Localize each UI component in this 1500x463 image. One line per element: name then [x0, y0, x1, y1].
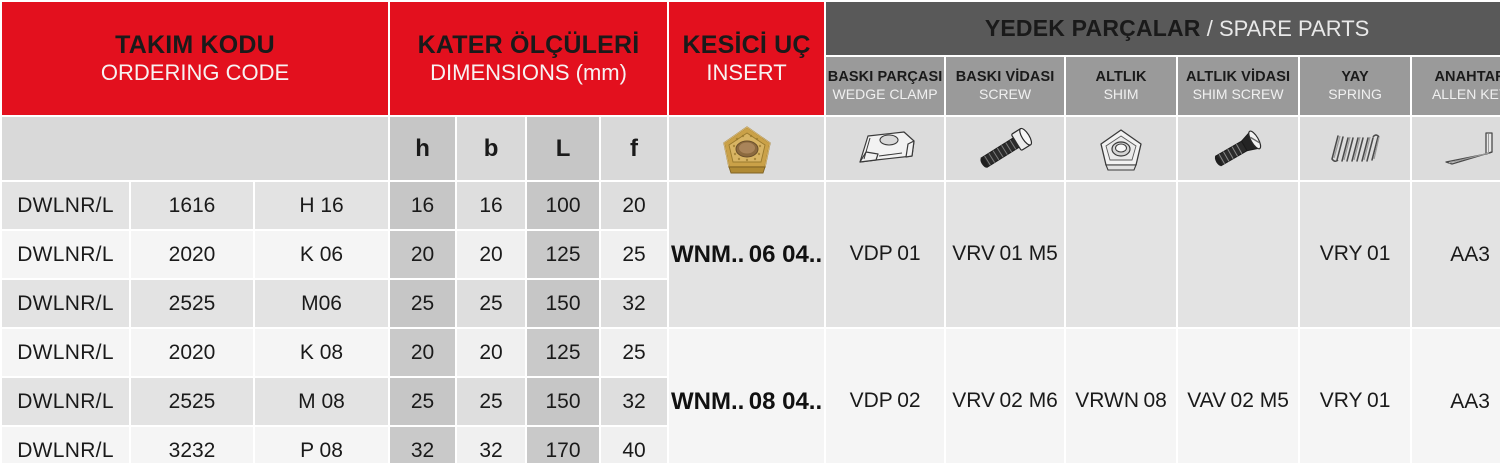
cell-size: 1616	[131, 182, 253, 229]
header-ordering-code-tr: TAKIM KODU	[2, 31, 388, 60]
cell-holder: P 08	[255, 427, 388, 463]
cell-dim-h: 20	[390, 329, 455, 376]
screw-group-2-line2: 02 M6	[1000, 389, 1058, 412]
shim-icon	[1090, 125, 1152, 173]
header-shim-tr: ALTLIK	[1066, 69, 1176, 86]
shim-screw-icon	[1199, 126, 1277, 172]
cell-dim-f: 32	[601, 280, 667, 327]
header-spring-tr: YAY	[1300, 69, 1410, 86]
dimension-letter-L: L	[527, 117, 599, 180]
screw-group-1-line2: 01 M5	[1000, 242, 1058, 265]
header-allen-key-tr: ANAHTAR	[1412, 69, 1500, 86]
shim-icon-cell	[1066, 117, 1176, 180]
cell-dim-h: 20	[390, 231, 455, 278]
cell-shim-screw-group-2: VAV 02 M5	[1178, 329, 1298, 463]
header-row-main: TAKIM KODU ORDERING CODE KATER ÖLÇÜLERİ …	[2, 2, 1500, 55]
cell-dim-b: 16	[457, 182, 525, 229]
insert-group-1-line2: 06 04..	[749, 241, 822, 268]
cell-screw-group-2: VRV 02 M6	[946, 329, 1064, 463]
cell-dim-b: 32	[457, 427, 525, 463]
cell-ordering-code: DWLNR/L	[2, 231, 129, 278]
header-row-letters-icons: h b L f	[2, 117, 1500, 180]
cell-dim-b: 25	[457, 378, 525, 425]
header-spare-parts: YEDEK PARÇALAR / SPARE PARTS	[826, 2, 1500, 55]
shim-group-2-line2: 08	[1144, 389, 1167, 412]
cell-shim-group-2: VRWN 08	[1066, 329, 1176, 463]
cell-holder: M06	[255, 280, 388, 327]
insert-group-2-line2: 08 04..	[749, 388, 822, 415]
header-ordering-code: TAKIM KODU ORDERING CODE	[2, 2, 388, 115]
wedge-clamp-icon	[846, 126, 924, 172]
cell-ordering-code: DWLNR/L	[2, 182, 129, 229]
header-screw: BASKI VİDASI SCREW	[946, 57, 1064, 115]
cell-dim-f: 25	[601, 329, 667, 376]
header-spare-parts-en: SPARE PARTS	[1219, 16, 1369, 41]
cell-dim-L: 100	[527, 182, 599, 229]
header-screw-en: SCREW	[946, 86, 1064, 103]
spring-group-1-line2: 01	[1367, 242, 1390, 265]
shim-screw-group-2-line1: VAV	[1187, 389, 1226, 412]
wedge-clamp-group-2-line1: VDP	[850, 389, 893, 412]
cell-dim-L: 150	[527, 280, 599, 327]
header-spare-parts-sep: /	[1201, 16, 1219, 41]
cell-holder: H 16	[255, 182, 388, 229]
cell-holder: M 08	[255, 378, 388, 425]
cell-dim-L: 170	[527, 427, 599, 463]
cell-size: 2020	[131, 231, 253, 278]
header-shim-en: SHIM	[1066, 86, 1176, 103]
cell-wedge-clamp-group-1: VDP 01	[826, 182, 944, 327]
spring-group-2-line2: 01	[1367, 389, 1390, 412]
cell-size: 3232	[131, 427, 253, 463]
cell-size: 2020	[131, 329, 253, 376]
cell-holder: K 08	[255, 329, 388, 376]
spec-table-sheet: TAKIM KODU ORDERING CODE KATER ÖLÇÜLERİ …	[0, 0, 1500, 463]
allen-key-group-2-value: AA3	[1450, 390, 1490, 413]
allen-key-icon	[1430, 126, 1500, 172]
cell-allen-key-group-1: AA3	[1412, 182, 1500, 327]
header-dimensions: KATER ÖLÇÜLERİ DIMENSIONS (mm)	[390, 2, 667, 115]
wedge-clamp-group-1-line1: VDP	[850, 242, 893, 265]
cell-dim-b: 20	[457, 231, 525, 278]
cell-size: 2525	[131, 378, 253, 425]
tool-specification-table: TAKIM KODU ORDERING CODE KATER ÖLÇÜLERİ …	[0, 0, 1500, 463]
header-spring: YAY SPRING	[1300, 57, 1410, 115]
insert-tip-icon-cell	[669, 117, 824, 180]
cell-screw-group-1: VRV 01 M5	[946, 182, 1064, 327]
cell-shim-screw-group-1	[1178, 182, 1298, 327]
table-row: DWLNR/L 2020 K 08 20 20 125 25 WNM.. 08 …	[2, 329, 1500, 376]
cell-dim-h: 16	[390, 182, 455, 229]
cell-dim-L: 125	[527, 329, 599, 376]
header-wedge-clamp-tr: BASKI PARÇASI	[826, 69, 944, 86]
cell-dim-h: 25	[390, 378, 455, 425]
cell-holder: K 06	[255, 231, 388, 278]
spring-group-2-line1: VRY	[1320, 389, 1363, 412]
spring-icon	[1318, 127, 1392, 171]
shim-screw-group-2-line2: 02 M5	[1231, 389, 1289, 412]
header-ordering-code-en: ORDERING CODE	[2, 60, 388, 86]
header-shim: ALTLIK SHIM	[1066, 57, 1176, 115]
cell-size: 2525	[131, 280, 253, 327]
cell-dim-f: 25	[601, 231, 667, 278]
cell-insert-group-1: WNM.. 06 04..	[669, 182, 824, 327]
cell-dim-f: 40	[601, 427, 667, 463]
screw-group-1-line1: VRV	[952, 242, 995, 265]
cell-dim-b: 20	[457, 329, 525, 376]
header-dimensions-en: DIMENSIONS (mm)	[390, 60, 667, 86]
cell-wedge-clamp-group-2: VDP 02	[826, 329, 944, 463]
spring-icon-cell	[1300, 117, 1410, 180]
insert-group-1-line1: WNM..	[671, 241, 744, 268]
dimension-letter-b: b	[457, 117, 525, 180]
cell-spring-group-1: VRY 01	[1300, 182, 1410, 327]
header-shim-screw: ALTLIK VİDASI SHIM SCREW	[1178, 57, 1298, 115]
header-shim-screw-tr: ALTLIK VİDASI	[1178, 69, 1298, 86]
cell-dim-L: 125	[527, 231, 599, 278]
header-allen-key: ANAHTAR ALLEN KEY	[1412, 57, 1500, 115]
cell-dim-h: 32	[390, 427, 455, 463]
wedge-clamp-group-2-line2: 02	[897, 389, 920, 412]
wedge-clamp-group-1-line2: 01	[897, 242, 920, 265]
cell-allen-key-group-2: AA3	[1412, 329, 1500, 463]
cell-spring-group-2: VRY 01	[1300, 329, 1410, 463]
spring-group-1-line1: VRY	[1320, 242, 1363, 265]
header-wedge-clamp: BASKI PARÇASI WEDGE CLAMP	[826, 57, 944, 115]
insert-group-2-line1: WNM..	[671, 388, 744, 415]
dimension-letter-f: f	[601, 117, 667, 180]
allen-key-icon-cell	[1412, 117, 1500, 180]
header-dimensions-tr: KATER ÖLÇÜLERİ	[390, 31, 667, 60]
header-insert-tr: KESİCİ UÇ	[669, 31, 824, 60]
cell-dim-f: 20	[601, 182, 667, 229]
wedge-clamp-icon-cell	[826, 117, 944, 180]
header-spare-parts-tr: YEDEK PARÇALAR	[985, 15, 1201, 41]
cell-dim-f: 32	[601, 378, 667, 425]
header-insert: KESİCİ UÇ INSERT	[669, 2, 824, 115]
header-allen-key-en: ALLEN KEY	[1412, 86, 1500, 103]
header-shim-screw-en: SHIM SCREW	[1178, 86, 1298, 103]
cell-ordering-code: DWLNR/L	[2, 378, 129, 425]
letters-row-empty-cell	[2, 117, 388, 180]
allen-key-group-1-value: AA3	[1450, 243, 1490, 266]
screw-group-2-line1: VRV	[952, 389, 995, 412]
shim-screw-icon-cell	[1178, 117, 1298, 180]
header-wedge-clamp-en: WEDGE CLAMP	[826, 86, 944, 103]
cell-dim-b: 25	[457, 280, 525, 327]
shim-group-2-line1: VRWN	[1075, 389, 1139, 412]
insert-tip-icon	[710, 122, 784, 176]
cell-ordering-code: DWLNR/L	[2, 280, 129, 327]
cell-ordering-code: DWLNR/L	[2, 329, 129, 376]
screw-icon-cell	[946, 117, 1064, 180]
cell-dim-h: 25	[390, 280, 455, 327]
header-spring-en: SPRING	[1300, 86, 1410, 103]
header-screw-tr: BASKI VİDASI	[946, 69, 1064, 86]
table-row: DWLNR/L 1616 H 16 16 16 100 20 WNM.. 06 …	[2, 182, 1500, 229]
cell-insert-group-2: WNM.. 08 04..	[669, 329, 824, 463]
cell-shim-group-1	[1066, 182, 1176, 327]
dimension-letter-h: h	[390, 117, 455, 180]
screw-icon	[966, 126, 1044, 172]
cell-dim-L: 150	[527, 378, 599, 425]
cell-ordering-code: DWLNR/L	[2, 427, 129, 463]
header-insert-en: INSERT	[669, 60, 824, 86]
